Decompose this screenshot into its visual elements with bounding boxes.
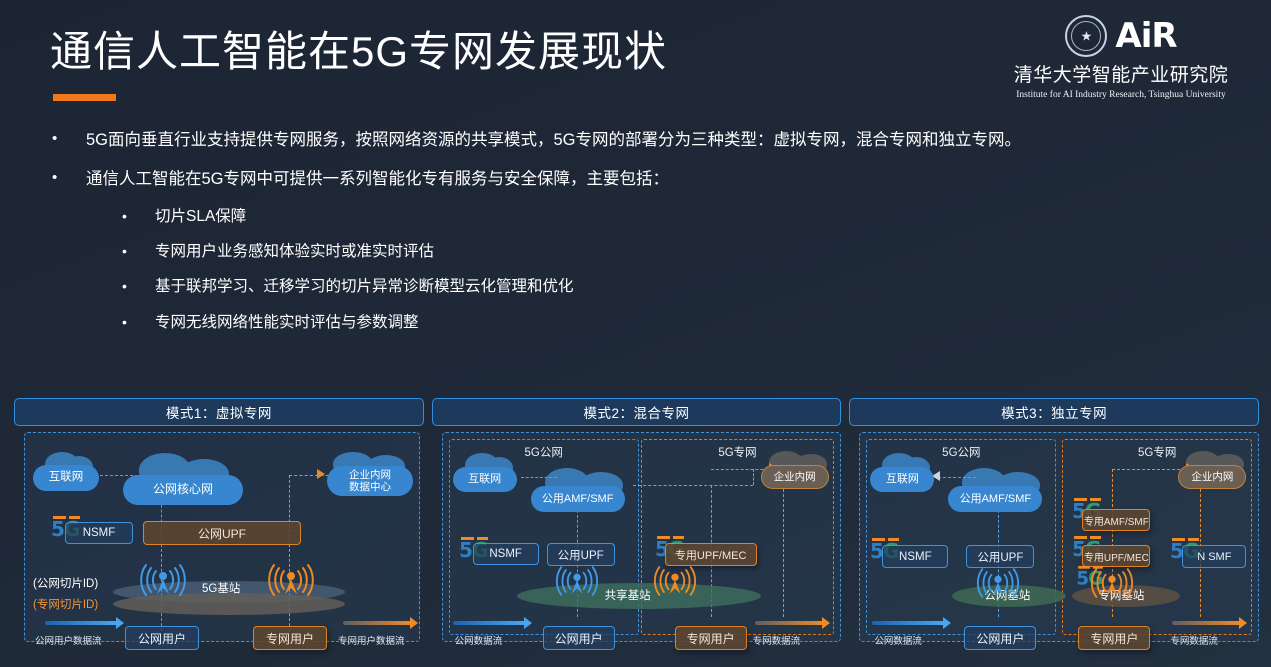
panel-mode2-body: 5G公网 5G专网 互联网 公用AM — [442, 432, 842, 642]
public-flow-label: 公网用户数据流 — [35, 633, 102, 647]
cloud-enterprise: 企业内网 — [761, 465, 829, 489]
box-nsmf[interactable]: NSMF — [882, 545, 948, 568]
sub-bullet-item: • 专网无线网络性能实时评估与参数调整 — [122, 312, 1232, 334]
bullet-marker: • — [122, 276, 155, 298]
box-private-upf-mec[interactable]: 专用UPF/MEC — [665, 543, 757, 566]
enterprise-path-line — [783, 469, 784, 617]
public-flow-arrow — [872, 621, 944, 625]
box-nsmf[interactable]: NSMF — [65, 522, 133, 544]
internet-link-line — [938, 477, 976, 478]
cloud-enterprise-dc: 企业内网 数据中心 — [327, 466, 413, 496]
public-slice-id-label: (公网切片ID) — [33, 575, 98, 591]
bullet-marker: • — [52, 167, 86, 192]
tower-private-icon — [651, 565, 703, 599]
sub-bullet-text: 基于联邦学习、迁移学习的切片异常诊断模型云化管理和优化 — [155, 276, 574, 298]
box-private-upf-mec[interactable]: 专用UPF/MEC — [1082, 545, 1150, 567]
cloud-enterprise: 企业内网 — [1178, 465, 1246, 489]
cloud-internet: 互联网 — [870, 467, 934, 492]
private-core-line — [633, 485, 753, 486]
private-slice-id-label: (专网切片ID) — [33, 596, 98, 612]
title-underline-accent — [53, 94, 116, 101]
tower-public-icon — [137, 563, 189, 597]
sub-bullet-text: 切片SLA保障 — [155, 206, 246, 228]
air-logo: AiR 清华大学智能产业研究院 Institute for AI Industr… — [1001, 14, 1241, 100]
sub-bullet-text: 专网无线网络性能实时评估与参数调整 — [155, 312, 419, 334]
private-flow-label: 专网用户数据流 — [338, 633, 405, 647]
cloud-internet-label: 互联网 — [870, 467, 934, 492]
bullet-item: • 5G面向垂直行业支持提供专网服务，按照网络资源的共享模式，5G专网的部署分为… — [52, 128, 1232, 153]
box-public-user[interactable]: 公网用户 — [964, 626, 1036, 650]
cloud-enterprise-label-2: 数据中心 — [349, 481, 391, 493]
logo-wordmark: AiR — [1115, 16, 1176, 56]
panel-mode2-title: 模式2：混合专网 — [432, 398, 842, 426]
box-private-user[interactable]: 专网用户 — [253, 626, 327, 650]
public-flow-arrow — [453, 621, 525, 625]
base-station-label: 5G基站 — [202, 580, 240, 596]
cloud-enterprise-label-1: 企业内网 — [349, 469, 391, 481]
cloud-enterprise-label: 企业内网 — [761, 465, 829, 489]
panel-mode2: 模式2：混合专网 5G公网 5G专网 互联网 — [432, 398, 842, 646]
sub-bullet-item: • 基于联邦学习、迁移学习的切片异常诊断模型云化管理和优化 — [122, 276, 1232, 298]
public-flow-arrow — [45, 621, 117, 625]
private-flow-arrow — [343, 621, 411, 625]
tower-private-icon — [1088, 567, 1140, 601]
enterprise-drop-line — [753, 469, 754, 485]
public-flow-label: 公网数据流 — [455, 633, 503, 647]
logo-top-row: AiR — [1001, 14, 1241, 58]
page-title: 通信人工智能在5G专网发展现状 — [50, 18, 667, 79]
tsinghua-seal-icon — [1065, 15, 1107, 57]
cloud-internet-label: 互联网 — [453, 467, 517, 492]
cloud-internet: 互联网 — [453, 467, 517, 492]
internet-link-line — [521, 477, 557, 478]
tower-private-icon — [265, 563, 317, 597]
panel-mode3-title: 模式3：独立专网 — [849, 398, 1259, 426]
private-flow-arrow — [755, 621, 823, 625]
zone-private-label: 5G专网 — [1063, 444, 1251, 460]
panel-mode3-body: 5G公网 5G专网 互联网 公用AMF/SMF — [859, 432, 1259, 642]
bullet-list: • 5G面向垂直行业支持提供专网服务，按照网络资源的共享模式，5G专网的部署分为… — [52, 128, 1232, 347]
cloud-enterprise-label: 企业内网 — [1178, 465, 1246, 489]
box-public-user[interactable]: 公网用户 — [125, 626, 199, 650]
box-private-user[interactable]: 专网用户 — [1078, 626, 1150, 650]
bullet-text: 通信人工智能在5G专网中可提供一系列智能化专有服务与安全保障，主要包括： — [86, 167, 669, 192]
cloud-amf-smf-label: 公用AMF/SMF — [948, 486, 1042, 512]
panel-mode1: 模式1：虚拟专网 互联网 公网核心网 — [14, 398, 424, 646]
diagram-panels: 模式1：虚拟专网 互联网 公网核心网 — [14, 398, 1259, 646]
sub-bullet-text: 专网用户业务感知体验实时或准实时评估 — [155, 241, 434, 263]
box-private-nsmf[interactable]: N SMF — [1182, 545, 1246, 568]
panel-mode3: 模式3：独立专网 5G公网 5G专网 互联网 — [849, 398, 1259, 646]
box-private-amf-smf[interactable]: 专用AMF/SMF — [1082, 509, 1150, 531]
public-flow-label: 公网数据流 — [874, 633, 922, 647]
private-flow-label: 专网数据流 — [753, 633, 801, 647]
bullet-marker: • — [122, 206, 155, 228]
arrow-to-enterprise-icon — [317, 469, 325, 479]
box-private-user[interactable]: 专网用户 — [675, 626, 747, 650]
box-public-upf[interactable]: 公用UPF — [547, 543, 615, 566]
bullet-text: 5G面向垂直行业支持提供专网服务，按照网络资源的共享模式，5G专网的部署分为三种… — [86, 128, 1021, 153]
sub-bullet-list: • 切片SLA保障 • 专网用户业务感知体验实时或准实时评估 • 基于联邦学习、… — [122, 206, 1232, 335]
bullet-marker: • — [52, 128, 86, 153]
cloud-amf-smf-label: 公用AMF/SMF — [531, 486, 625, 512]
cloud-amf-smf: 公用AMF/SMF — [948, 486, 1042, 512]
private-flow-arrow — [1172, 621, 1240, 625]
cloud-internet: 互联网 — [33, 465, 99, 491]
logo-chinese-name: 清华大学智能产业研究院 — [1001, 60, 1241, 87]
tower-public-icon — [974, 567, 1026, 601]
private-flow-label: 专网数据流 — [1170, 633, 1218, 647]
tower-public-icon — [553, 565, 605, 599]
cloud-internet-label: 互联网 — [33, 465, 99, 491]
box-public-upf[interactable]: 公用UPF — [966, 545, 1034, 568]
cloud-amf-smf: 公用AMF/SMF — [531, 486, 625, 512]
zone-public-label: 5G公网 — [867, 444, 1055, 460]
panel-mode1-body: 互联网 公网核心网 企业内网 数据中心 — [24, 432, 420, 642]
svg-text:5: 5 — [459, 538, 473, 560]
logo-english-name: Institute for AI Industry Research, Tsin… — [1001, 90, 1241, 100]
cloud-public-core: 公网核心网 — [123, 475, 243, 505]
cloud-public-core-label: 公网核心网 — [123, 475, 243, 505]
bullet-marker: • — [122, 241, 155, 263]
svg-text:5: 5 — [51, 517, 65, 539]
shared-base-station-label: 共享基站 — [605, 587, 651, 603]
zone-private-label: 5G专网 — [642, 444, 834, 460]
zone-public-label: 5G公网 — [450, 444, 638, 460]
bullet-item: • 通信人工智能在5G专网中可提供一系列智能化专有服务与安全保障，主要包括： — [52, 167, 1232, 192]
bullet-marker: • — [122, 312, 155, 334]
box-public-upf[interactable]: 公网UPF — [143, 521, 301, 545]
box-public-user[interactable]: 公网用户 — [543, 626, 615, 650]
sub-bullet-item: • 切片SLA保障 — [122, 206, 1232, 228]
panel-mode1-title: 模式1：虚拟专网 — [14, 398, 424, 426]
sub-bullet-item: • 专网用户业务感知体验实时或准实时评估 — [122, 241, 1232, 263]
box-nsmf[interactable]: NSMF — [473, 543, 539, 565]
